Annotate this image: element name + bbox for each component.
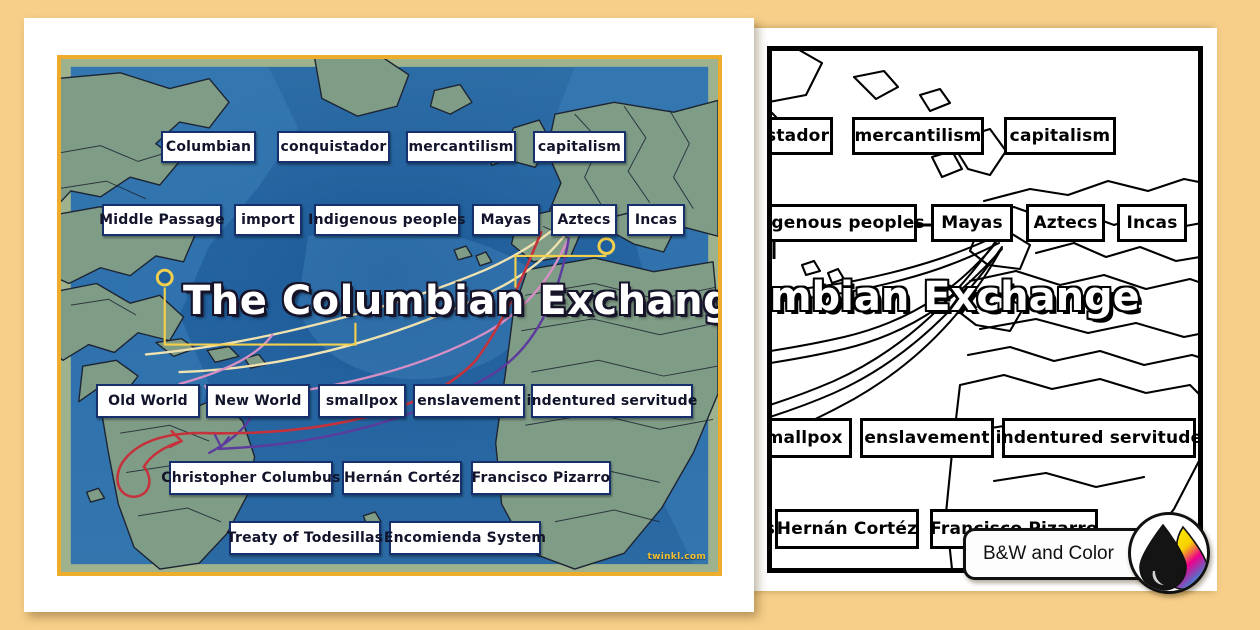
label-indentured-servitude[interactable]: indentured servitude	[531, 384, 693, 418]
bw-map-artwork: The Columbian Exchange Columbianconquist…	[767, 46, 1203, 573]
bw-label-mayas[interactable]: Mayas	[931, 204, 1013, 242]
label-mercantilism[interactable]: mercantilism	[406, 131, 516, 163]
label-mayas[interactable]: Mayas	[472, 204, 540, 236]
label-enslavement[interactable]: enslavement	[413, 384, 525, 418]
label-indigenous-peoples[interactable]: Indigenous peoples	[314, 204, 460, 236]
label-conquistador[interactable]: conquistador	[277, 131, 390, 163]
label-smallpox[interactable]: smallpox	[318, 384, 406, 418]
badge-label: B&W and Color	[966, 543, 1114, 565]
ink-drop-badge-circle	[1128, 512, 1210, 594]
bw-label-capitalism[interactable]: capitalism	[1004, 117, 1116, 155]
label-francisco-pizarro[interactable]: Francisco Pizarro	[471, 461, 611, 495]
label-columbian[interactable]: Columbian	[161, 131, 256, 163]
bw-label-indigenous-peoples[interactable]: Indigenous peoples	[767, 204, 917, 242]
color-worksheet-page[interactable]: The Columbian Exchange Columbianconquist…	[24, 18, 754, 612]
label-capitalism[interactable]: capitalism	[533, 131, 626, 163]
bw-label-enslavement[interactable]: enslavement	[860, 418, 994, 458]
bw-label-aztecs[interactable]: Aztecs	[1026, 204, 1105, 242]
label-christopher-columbus[interactable]: Christopher Columbus	[169, 461, 333, 495]
new-world-pin	[157, 270, 172, 285]
label-import[interactable]: import	[234, 204, 302, 236]
bw-label-incas[interactable]: Incas	[1117, 204, 1187, 242]
bw-label-mercantilism[interactable]: mercantilism	[852, 117, 984, 155]
bw-label-smallpox[interactable]: smallpox	[767, 418, 852, 458]
bw-label-indentured-servitude[interactable]: indentured servitude	[1002, 418, 1196, 458]
bw-label-hern-n-cort-z[interactable]: Hernán Cortéz	[775, 509, 919, 549]
label-aztecs[interactable]: Aztecs	[551, 204, 617, 236]
color-map-frame: The Columbian Exchange Columbianconquist…	[57, 55, 722, 576]
bw-worksheet-page[interactable]: The Columbian Exchange Columbianconquist…	[753, 28, 1217, 591]
label-new-world[interactable]: New World	[206, 384, 310, 418]
old-world-pin	[599, 239, 614, 254]
label-incas[interactable]: Incas	[627, 204, 685, 236]
label-encomienda-system[interactable]: Encomienda System	[389, 521, 541, 555]
bw-label-conquistador[interactable]: conquistador	[767, 117, 833, 155]
label-middle-passage[interactable]: Middle Passage	[102, 204, 222, 236]
map-title: The Columbian Exchange	[183, 278, 722, 324]
label-hern-n-cort-z[interactable]: Hernán Cortéz	[342, 461, 462, 495]
bw-page-border: The Columbian Exchange Columbianconquist…	[767, 46, 1203, 573]
label-treaty-of-todesillas[interactable]: Treaty of Todesillas	[229, 521, 381, 555]
label-old-world[interactable]: Old World	[96, 384, 200, 418]
twinkl-watermark: twinkl.com	[648, 552, 707, 562]
screenshot-stage: The Columbian Exchange Columbianconquist…	[0, 0, 1260, 630]
bw-map-title: The Columbian Exchange	[767, 274, 1140, 320]
